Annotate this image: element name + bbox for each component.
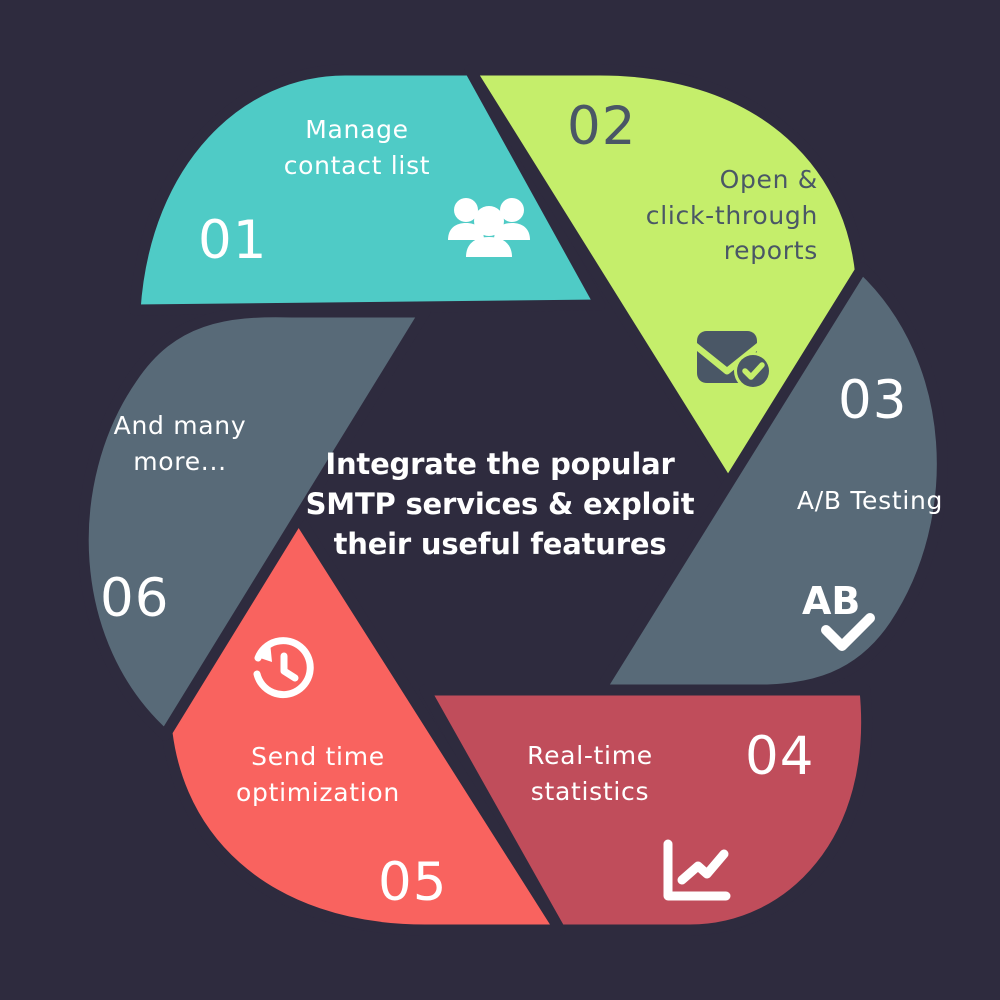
- infographic-canvas: Integrate the popular SMTP services & ex…: [0, 0, 1000, 1000]
- pinwheel-shapes: [0, 0, 1000, 1000]
